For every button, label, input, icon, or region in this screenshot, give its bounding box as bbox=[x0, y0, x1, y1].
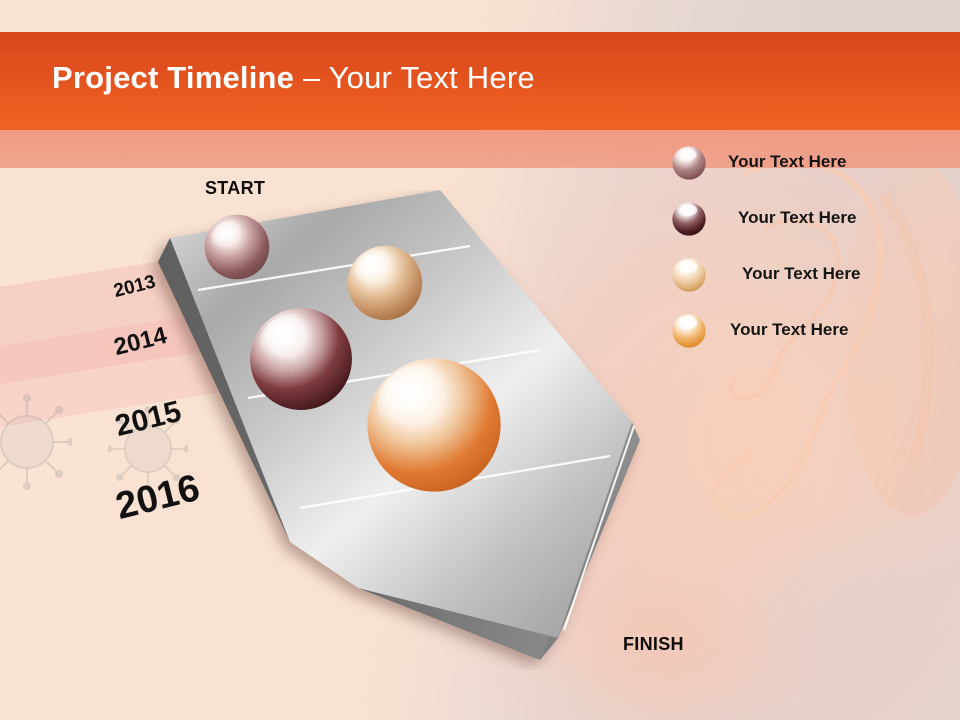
finish-label: FINISH bbox=[623, 634, 684, 655]
virus-motif-icon bbox=[0, 392, 72, 492]
legend-item-label: Your Text Here bbox=[742, 264, 860, 284]
legend-item-label: Your Text Here bbox=[728, 152, 846, 172]
legend-bullet-icon bbox=[672, 146, 706, 180]
legend-item-label: Your Text Here bbox=[738, 208, 856, 228]
presentation-slide: Project Timeline – Your Text Here bbox=[0, 0, 960, 720]
milestone-sphere-2014[interactable] bbox=[347, 245, 423, 321]
title-strong: Project Timeline bbox=[52, 60, 294, 95]
legend-item-label: Your Text Here bbox=[730, 320, 848, 340]
start-label: START bbox=[205, 178, 265, 199]
milestone-sphere-2015[interactable] bbox=[249, 307, 353, 411]
milestone-sphere-2013[interactable] bbox=[204, 214, 270, 280]
page-title: Project Timeline – Your Text Here bbox=[52, 60, 535, 96]
legend-bullet-icon bbox=[672, 202, 706, 236]
legend-bullet-icon bbox=[672, 258, 706, 292]
milestone-sphere-2016[interactable] bbox=[366, 357, 502, 493]
title-light: – Your Text Here bbox=[303, 60, 535, 95]
legend-bullet-icon bbox=[672, 314, 706, 348]
